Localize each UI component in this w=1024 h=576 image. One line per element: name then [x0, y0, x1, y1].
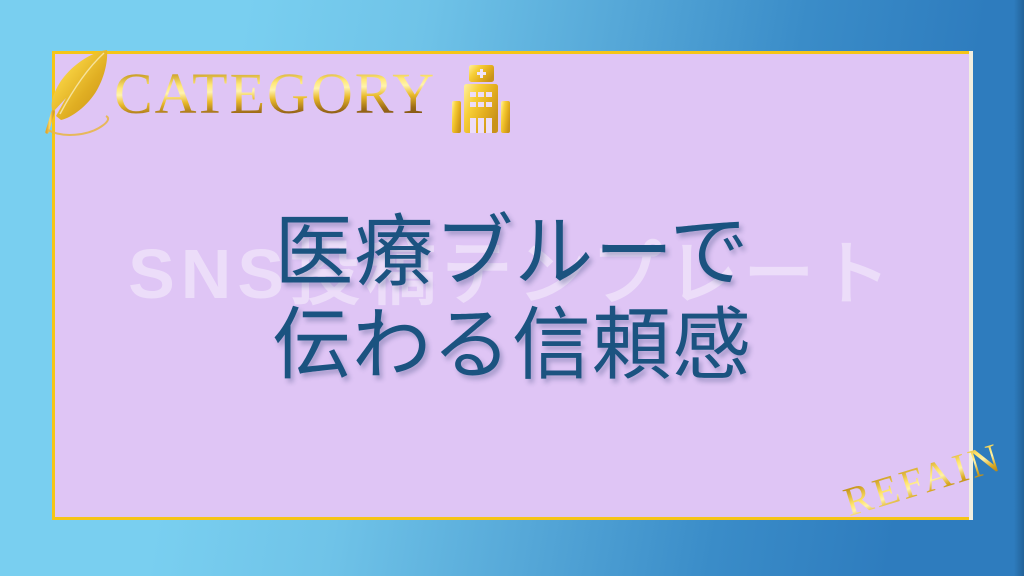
headline-line-2: 伝わる信頼感 [0, 299, 1024, 392]
slide-canvas: CATEGORY [0, 0, 1024, 576]
hospital-building-icon [450, 63, 512, 137]
feather-quill-icon [44, 46, 116, 138]
headline: 医療ブルーで 伝わる信頼感 [0, 206, 1024, 392]
headline-line-1: 医療ブルーで [0, 206, 1024, 299]
category-label: CATEGORY [110, 65, 440, 123]
category-header: CATEGORY [44, 42, 512, 142]
